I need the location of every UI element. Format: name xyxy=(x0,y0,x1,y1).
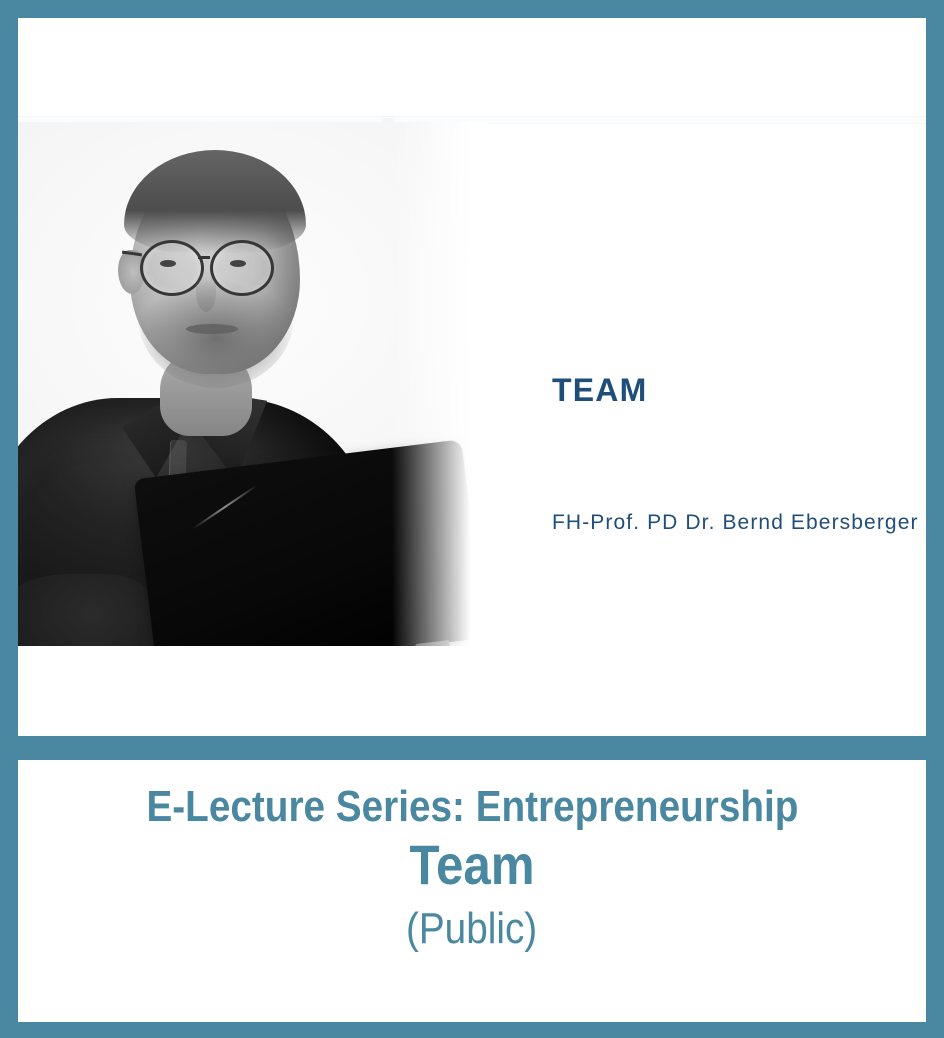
section-divider xyxy=(18,736,926,760)
caption-series-label: E-Lecture Series: Entrepreneurship xyxy=(146,784,798,831)
glasses-bridge xyxy=(198,256,210,259)
presenter-photo xyxy=(18,122,488,646)
glasses-lens-right xyxy=(210,240,274,296)
glasses-lens-left xyxy=(140,240,204,296)
video-panel[interactable]: TEAM FH-Prof. PD Dr. Bernd Ebersberger xyxy=(18,18,926,736)
presenter-nose xyxy=(196,272,216,312)
lecture-card: TEAM FH-Prof. PD Dr. Bernd Ebersberger E… xyxy=(0,0,944,1038)
caption-title: Team xyxy=(409,835,534,894)
caption-panel: E-Lecture Series: Entrepreneurship Team … xyxy=(18,760,926,1022)
photo-edge-fade xyxy=(392,122,488,646)
caption-access-label: (Public) xyxy=(406,906,537,953)
presenter-eye-right xyxy=(230,260,246,267)
presenter-eye-left xyxy=(160,260,176,267)
slide-heading: TEAM xyxy=(552,372,647,409)
presenter-mouth xyxy=(186,324,238,334)
slide-presenter-name: FH-Prof. PD Dr. Bernd Ebersberger xyxy=(552,511,919,535)
